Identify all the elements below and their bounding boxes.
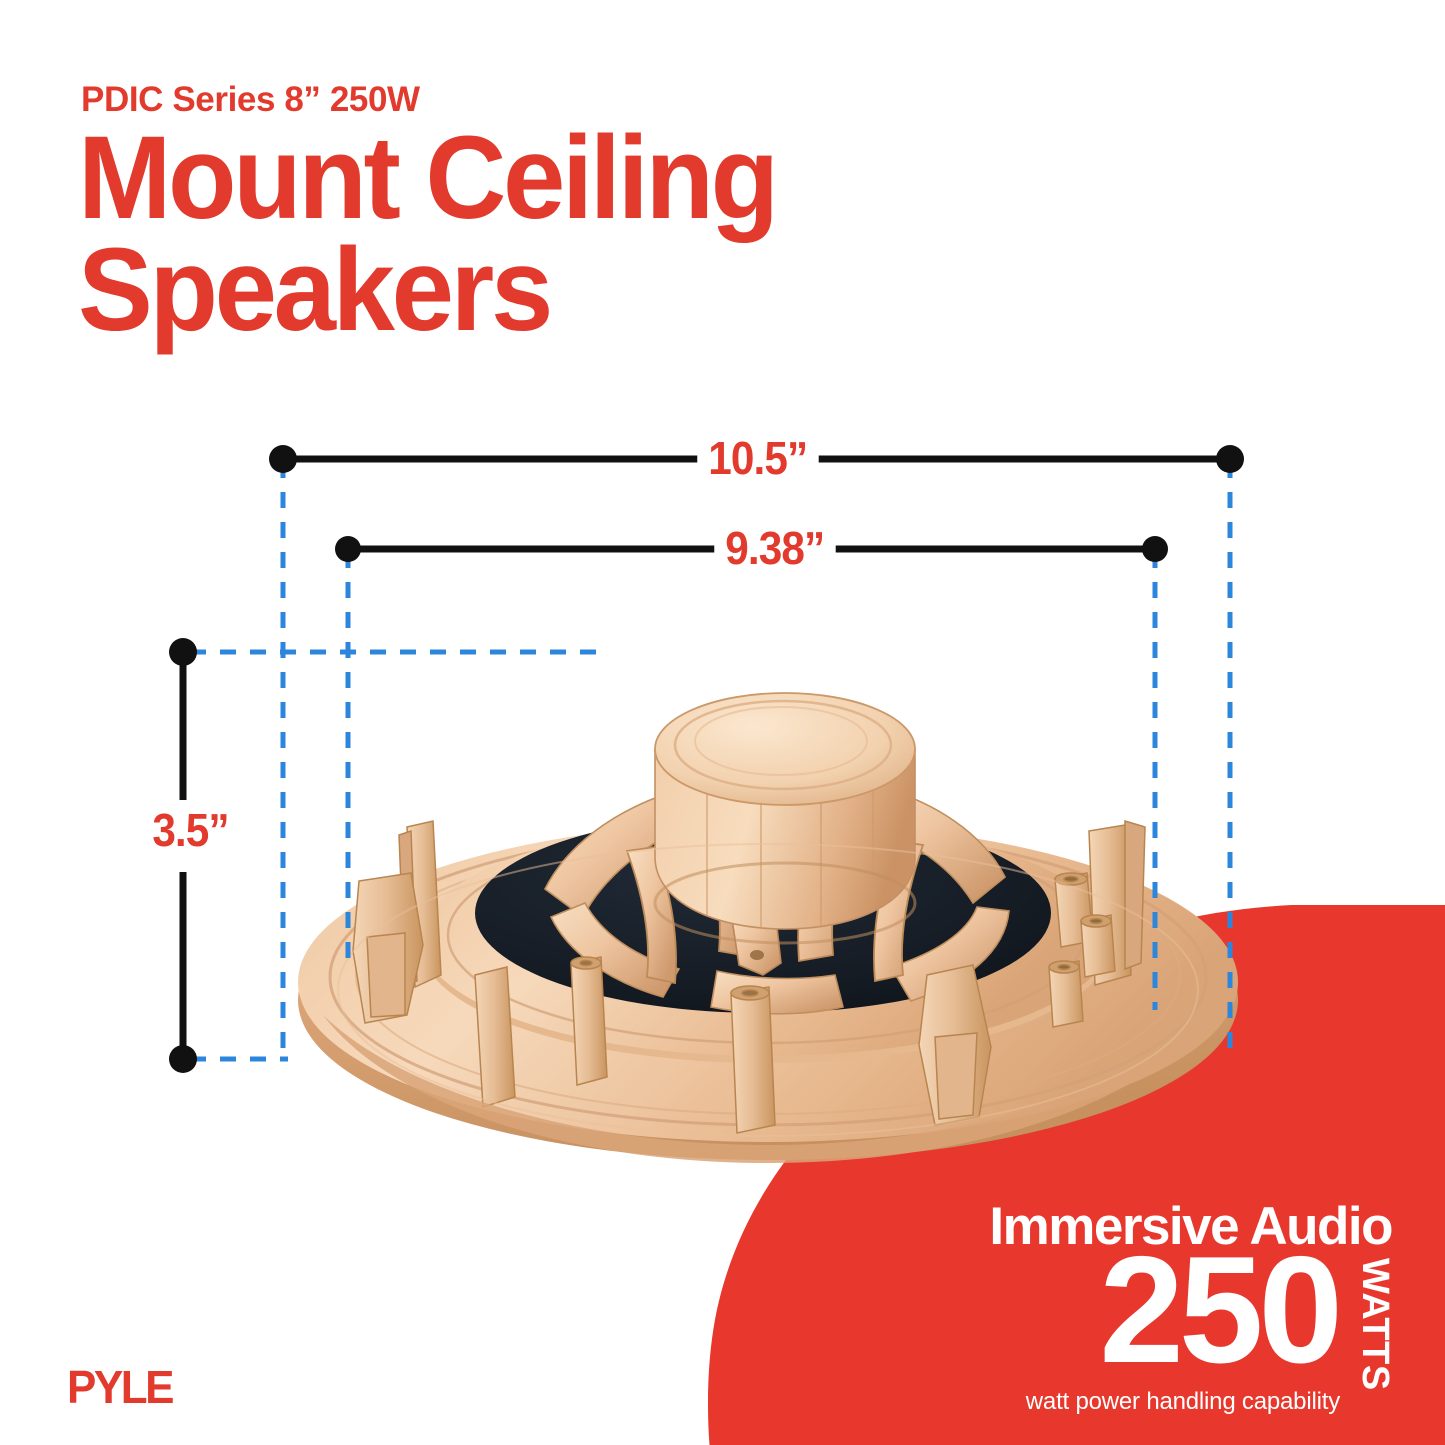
dim-endpoint-inner-right <box>1142 536 1168 562</box>
dimension-label-inner-width: 9.38” <box>714 524 835 572</box>
speaker-product-image <box>283 645 1253 1170</box>
page-title-line-2: Speakers <box>78 234 1076 346</box>
dim-endpoint-outer-left <box>269 445 297 473</box>
page-title: Mount Ceiling Speakers <box>78 122 1076 346</box>
dimension-label-outer-width: 10.5” <box>697 434 818 482</box>
power-badge: Immersive Audio 250 WATTS watt power han… <box>880 1196 1400 1416</box>
dim-endpoint-outer-right <box>1216 445 1244 473</box>
pyle-logo: PYLE <box>67 1362 172 1415</box>
badge-wattage-unit: WATTS <box>1353 1258 1396 1391</box>
badge-subtitle: watt power handling capability <box>1026 1388 1340 1416</box>
page-title-line-1: Mount Ceiling <box>78 122 1076 234</box>
dim-endpoint-height-top <box>169 638 197 666</box>
badge-wattage-number: 250 <box>1099 1234 1338 1386</box>
dim-endpoint-inner-left <box>335 536 361 562</box>
product-infographic: PDIC Series 8” 250W Mount Ceiling Speake… <box>0 0 1445 1445</box>
dim-endpoint-height-bottom <box>169 1045 197 1073</box>
dimension-label-height: 3.5” <box>145 806 236 854</box>
